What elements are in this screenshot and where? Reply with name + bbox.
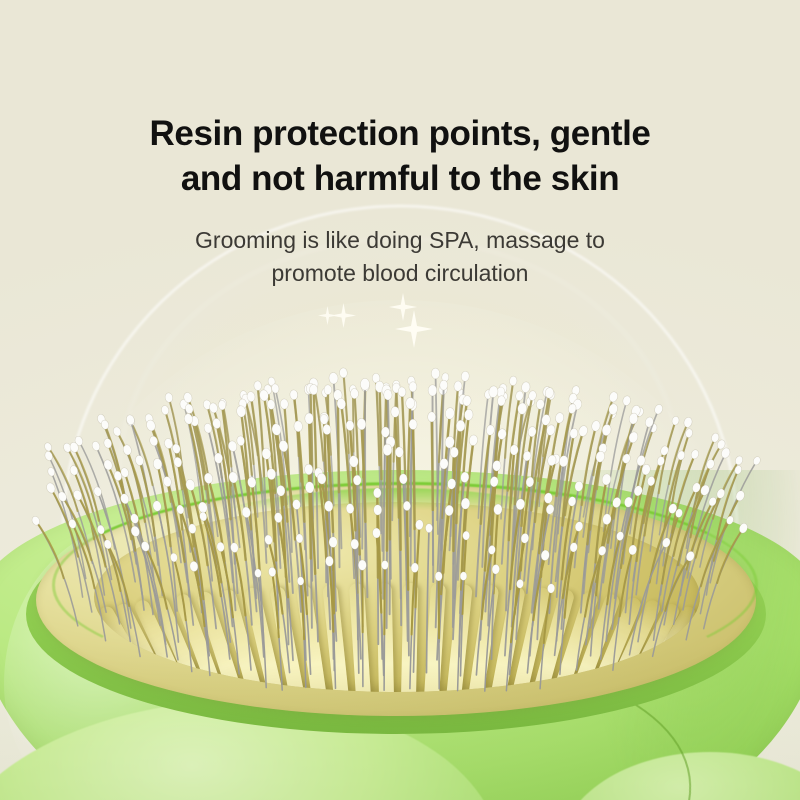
product-image	[0, 0, 800, 800]
pin-resin-tip	[428, 385, 437, 396]
pin-resin-tip	[324, 385, 332, 395]
pin-resin-tip	[515, 390, 524, 401]
pin-resin-tip	[428, 412, 436, 422]
pin-resin-tip	[353, 475, 361, 485]
pin-resin-tip	[486, 424, 495, 435]
pin-resin-tip	[91, 440, 101, 452]
pin-resin-tip	[280, 399, 289, 410]
pin-resin-tip	[381, 427, 389, 438]
pin-resin-tip	[653, 403, 664, 415]
brush-pin	[395, 447, 403, 626]
pin-resin-tip	[469, 434, 479, 446]
pin-resin-tip	[409, 419, 417, 430]
pin-resin-tip	[591, 420, 601, 432]
pin-resin-tip	[440, 380, 448, 390]
pin-resin-tip	[351, 539, 359, 550]
pin-resin-tip	[555, 412, 565, 424]
pin-resin-tip	[296, 534, 304, 544]
pin-resin-tip	[134, 455, 144, 467]
pin-resin-tip	[399, 474, 407, 485]
pin-resin-tip	[425, 523, 432, 532]
pin-resin-tip	[683, 416, 693, 428]
pin-resin-tip	[431, 368, 440, 379]
pin-resin-tip	[297, 577, 304, 586]
pin-resin-tip	[304, 464, 313, 475]
pin-resin-tip	[112, 426, 122, 437]
pin-resin-tip	[358, 560, 366, 571]
pin-resin-tip	[346, 503, 355, 514]
pin-resin-tip	[521, 381, 531, 393]
pin-resin-tip	[492, 564, 501, 574]
pin-resin-tip	[398, 387, 406, 397]
pin-resin-tip	[406, 397, 415, 409]
brush-pin	[540, 583, 555, 688]
pin-resin-tip	[690, 449, 700, 460]
pin-resin-tip	[608, 391, 619, 403]
pin-resin-tip	[254, 569, 261, 578]
brush-pin	[230, 542, 251, 670]
pin-resin-tip	[578, 425, 589, 438]
pin-resin-tip	[547, 583, 555, 593]
pin-resin-tip	[403, 501, 411, 511]
pin-resin-tip	[373, 488, 381, 498]
pin-resin-tip	[152, 500, 162, 512]
brush-pin	[700, 489, 746, 613]
pin-resin-tip	[409, 382, 417, 392]
pin-resin-tip	[450, 447, 458, 458]
pin-resin-tip	[622, 395, 632, 406]
pin-resin-tip	[460, 572, 467, 581]
pin-resin-tip	[305, 413, 314, 424]
pin-resin-tip	[752, 455, 762, 466]
pin-resin-tip	[309, 384, 318, 395]
pin-resin-tip	[164, 392, 173, 403]
pin-resin-tip	[462, 531, 469, 540]
pin-resin-tip	[360, 378, 369, 390]
pin-resin-tip	[45, 482, 57, 495]
pin-resin-tip	[373, 505, 382, 516]
pin-resin-tip	[574, 521, 584, 532]
brush-pin	[425, 523, 432, 672]
pin-resin-tip	[324, 501, 333, 512]
pin-resin-tip	[254, 381, 262, 391]
pin-resin-tip	[415, 519, 423, 529]
pin-resin-tip	[671, 416, 680, 426]
pin-resin-tip	[395, 447, 403, 458]
pin-resin-tip	[461, 371, 470, 382]
pin-resin-tip	[384, 389, 393, 400]
pin-resin-tip	[435, 572, 442, 581]
pin-resin-tip	[350, 388, 359, 399]
brush-pin	[704, 522, 749, 629]
pin-resin-tip	[383, 444, 392, 456]
promo-banner: Resin protection points, gentle and not …	[0, 0, 800, 800]
pin-resin-tip	[339, 368, 348, 379]
pin-resin-tip	[329, 372, 339, 384]
pin-resin-tip	[381, 560, 388, 569]
pin-resin-tip	[509, 376, 517, 386]
pin-resin-tip	[411, 563, 419, 573]
pin-resin-tip	[329, 537, 338, 548]
brush-pin	[686, 515, 735, 640]
pin-resin-tip	[320, 414, 328, 424]
pin-resin-tip	[445, 407, 455, 419]
pin-resin-tip	[160, 405, 169, 416]
pin-resin-tip	[162, 476, 172, 488]
pin-resin-tip	[289, 389, 298, 400]
pin-resin-tip	[293, 420, 302, 432]
brush-pins	[0, 0, 800, 800]
pin-resin-tip	[103, 459, 114, 471]
brush-pin	[268, 567, 282, 690]
pin-resin-tip	[628, 544, 638, 555]
pin-resin-tip	[266, 399, 275, 410]
